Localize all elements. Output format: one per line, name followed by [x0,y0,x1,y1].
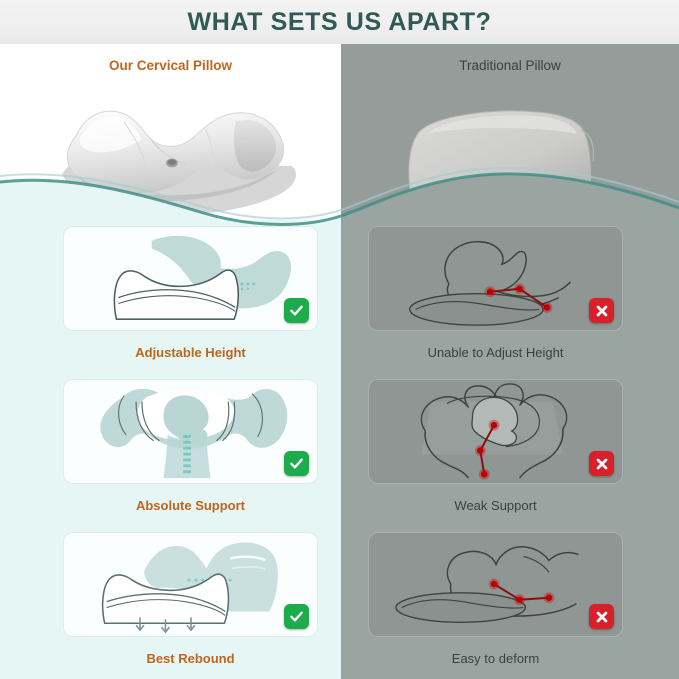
page-title: WHAT SETS US APART? [188,8,492,37]
back-sleeper-aligned-spine-icon [64,380,317,483]
check-icon [284,451,309,476]
feature-label: Easy to deform [368,651,623,666]
feature-label: Best Rebound [63,651,318,666]
right-column-heading: Traditional Pillow [341,58,679,73]
check-icon [284,298,309,323]
contoured-cervical-pillow-icon [0,78,341,228]
side-sleeper-on-cervical-pillow-icon [64,227,317,330]
flattened-pillow-icon [369,533,622,636]
memory-foam-rebound-icon [64,533,317,636]
x-icon [589,451,614,476]
left-column-heading: Our Cervical Pillow [0,58,341,73]
x-icon [589,604,614,629]
check-icon [284,604,309,629]
comparison-infographic: WHAT SETS US APART? Our Cervical Pillow [0,0,679,679]
feature-card-adjustable-height[interactable] [63,226,318,331]
feature-card-absolute-support[interactable] [63,379,318,484]
x-icon [589,298,614,323]
side-sleeper-on-flat-pillow-icon [369,227,622,330]
feature-card-weak-support[interactable] [368,379,623,484]
feature-label: Adjustable Height [63,345,318,360]
feature-label: Unable to Adjust Height [368,345,623,360]
feature-label: Absolute Support [63,498,318,513]
feature-card-best-rebound[interactable] [63,532,318,637]
back-sleeper-misaligned-spine-icon [369,380,622,483]
header-banner: WHAT SETS US APART? [0,0,679,44]
feature-label: Weak Support [368,498,623,513]
flat-rectangular-pillow-icon [341,78,679,228]
feature-card-unable-to-adjust-height[interactable] [368,226,623,331]
feature-card-easy-to-deform[interactable] [368,532,623,637]
